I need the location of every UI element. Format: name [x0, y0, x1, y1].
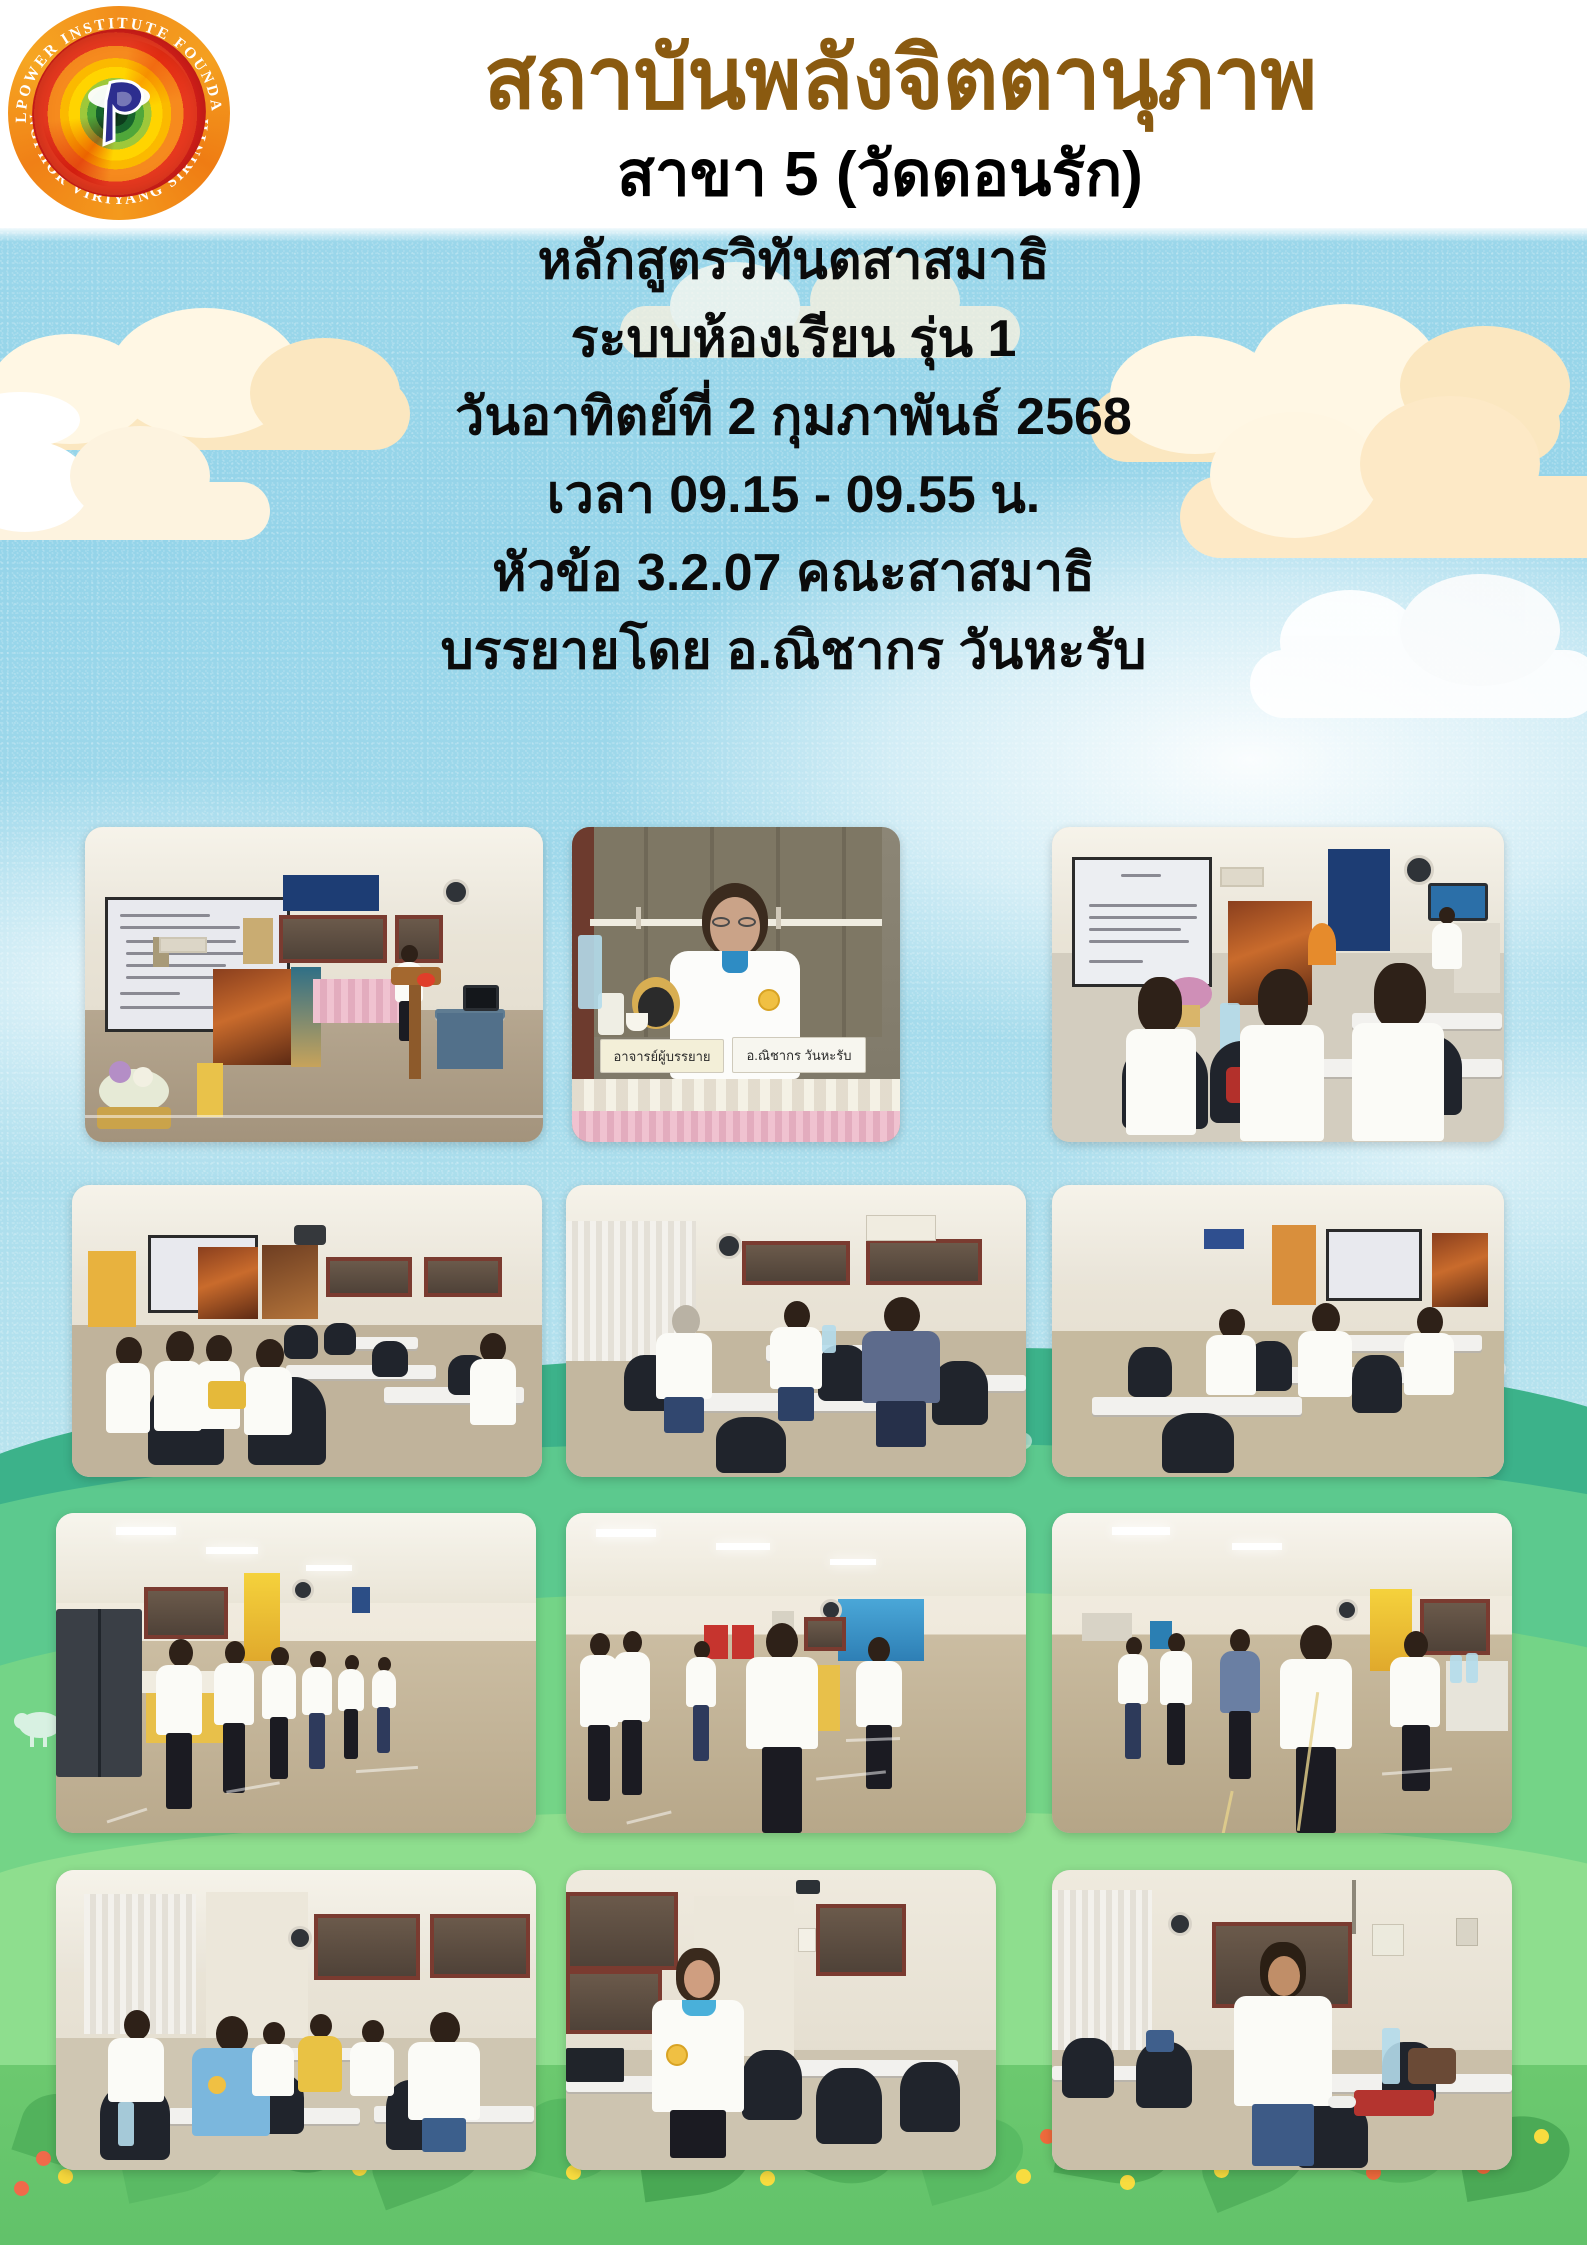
photo-r4c1[interactable]: [56, 1870, 536, 2170]
institute-logo: WILLPOWER INSTITUTE FOUNDATION LUANGPHOR…: [8, 6, 230, 220]
plate-lecturer-name: อ.ณิชากร วันหะรับ: [732, 1037, 866, 1073]
info-topic: หัวข้อ 3.2.07 คณะสาสมาธิ: [0, 534, 1587, 612]
plate-lecturer-role: อาจารย์ผู้บรรยาย: [600, 1039, 724, 1073]
poster-canvas: WILLPOWER INSTITUTE FOUNDATION LUANGPHOR…: [0, 0, 1587, 2245]
info-course: หลักสูตรวิทันตสาสมาธิ: [0, 222, 1587, 300]
photo-r2c3[interactable]: [1052, 1185, 1504, 1477]
info-time: เวลา 09.15 - 09.55 น.: [0, 456, 1587, 534]
photo-r1c2[interactable]: อาจารย์ผู้บรรยาย อ.ณิชากร วันหะรับ: [572, 827, 900, 1142]
photo-r3c3[interactable]: [1052, 1513, 1512, 1833]
photo-r1c1[interactable]: [85, 827, 543, 1142]
photo-r2c1[interactable]: [72, 1185, 542, 1477]
info-classroom: ระบบห้องเรียน รุ่น 1: [0, 300, 1587, 378]
photo-r4c3[interactable]: [1052, 1870, 1512, 2170]
info-date: วันอาทิตย์ที่ 2 กุมภาพันธ์ 2568: [0, 378, 1587, 456]
logo-monogram-p: [84, 75, 154, 149]
branch-subtitle: สาขา 5 (วัดดอนรัก): [230, 142, 1530, 207]
photo-r2c2[interactable]: [566, 1185, 1026, 1477]
photo-r3c1[interactable]: [56, 1513, 536, 1833]
photo-r4c2[interactable]: [566, 1870, 996, 2170]
page-title: สถาบันพลังจิตตานุภาพ: [230, 36, 1570, 124]
photo-r3c2[interactable]: [566, 1513, 1026, 1833]
event-info-block: หลักสูตรวิทันตสาสมาธิ ระบบห้องเรียน รุ่น…: [0, 222, 1587, 690]
info-lecturer: บรรยายโดย อ.ณิชากร วันหะรับ: [0, 612, 1587, 690]
photo-r1c3[interactable]: [1052, 827, 1504, 1142]
